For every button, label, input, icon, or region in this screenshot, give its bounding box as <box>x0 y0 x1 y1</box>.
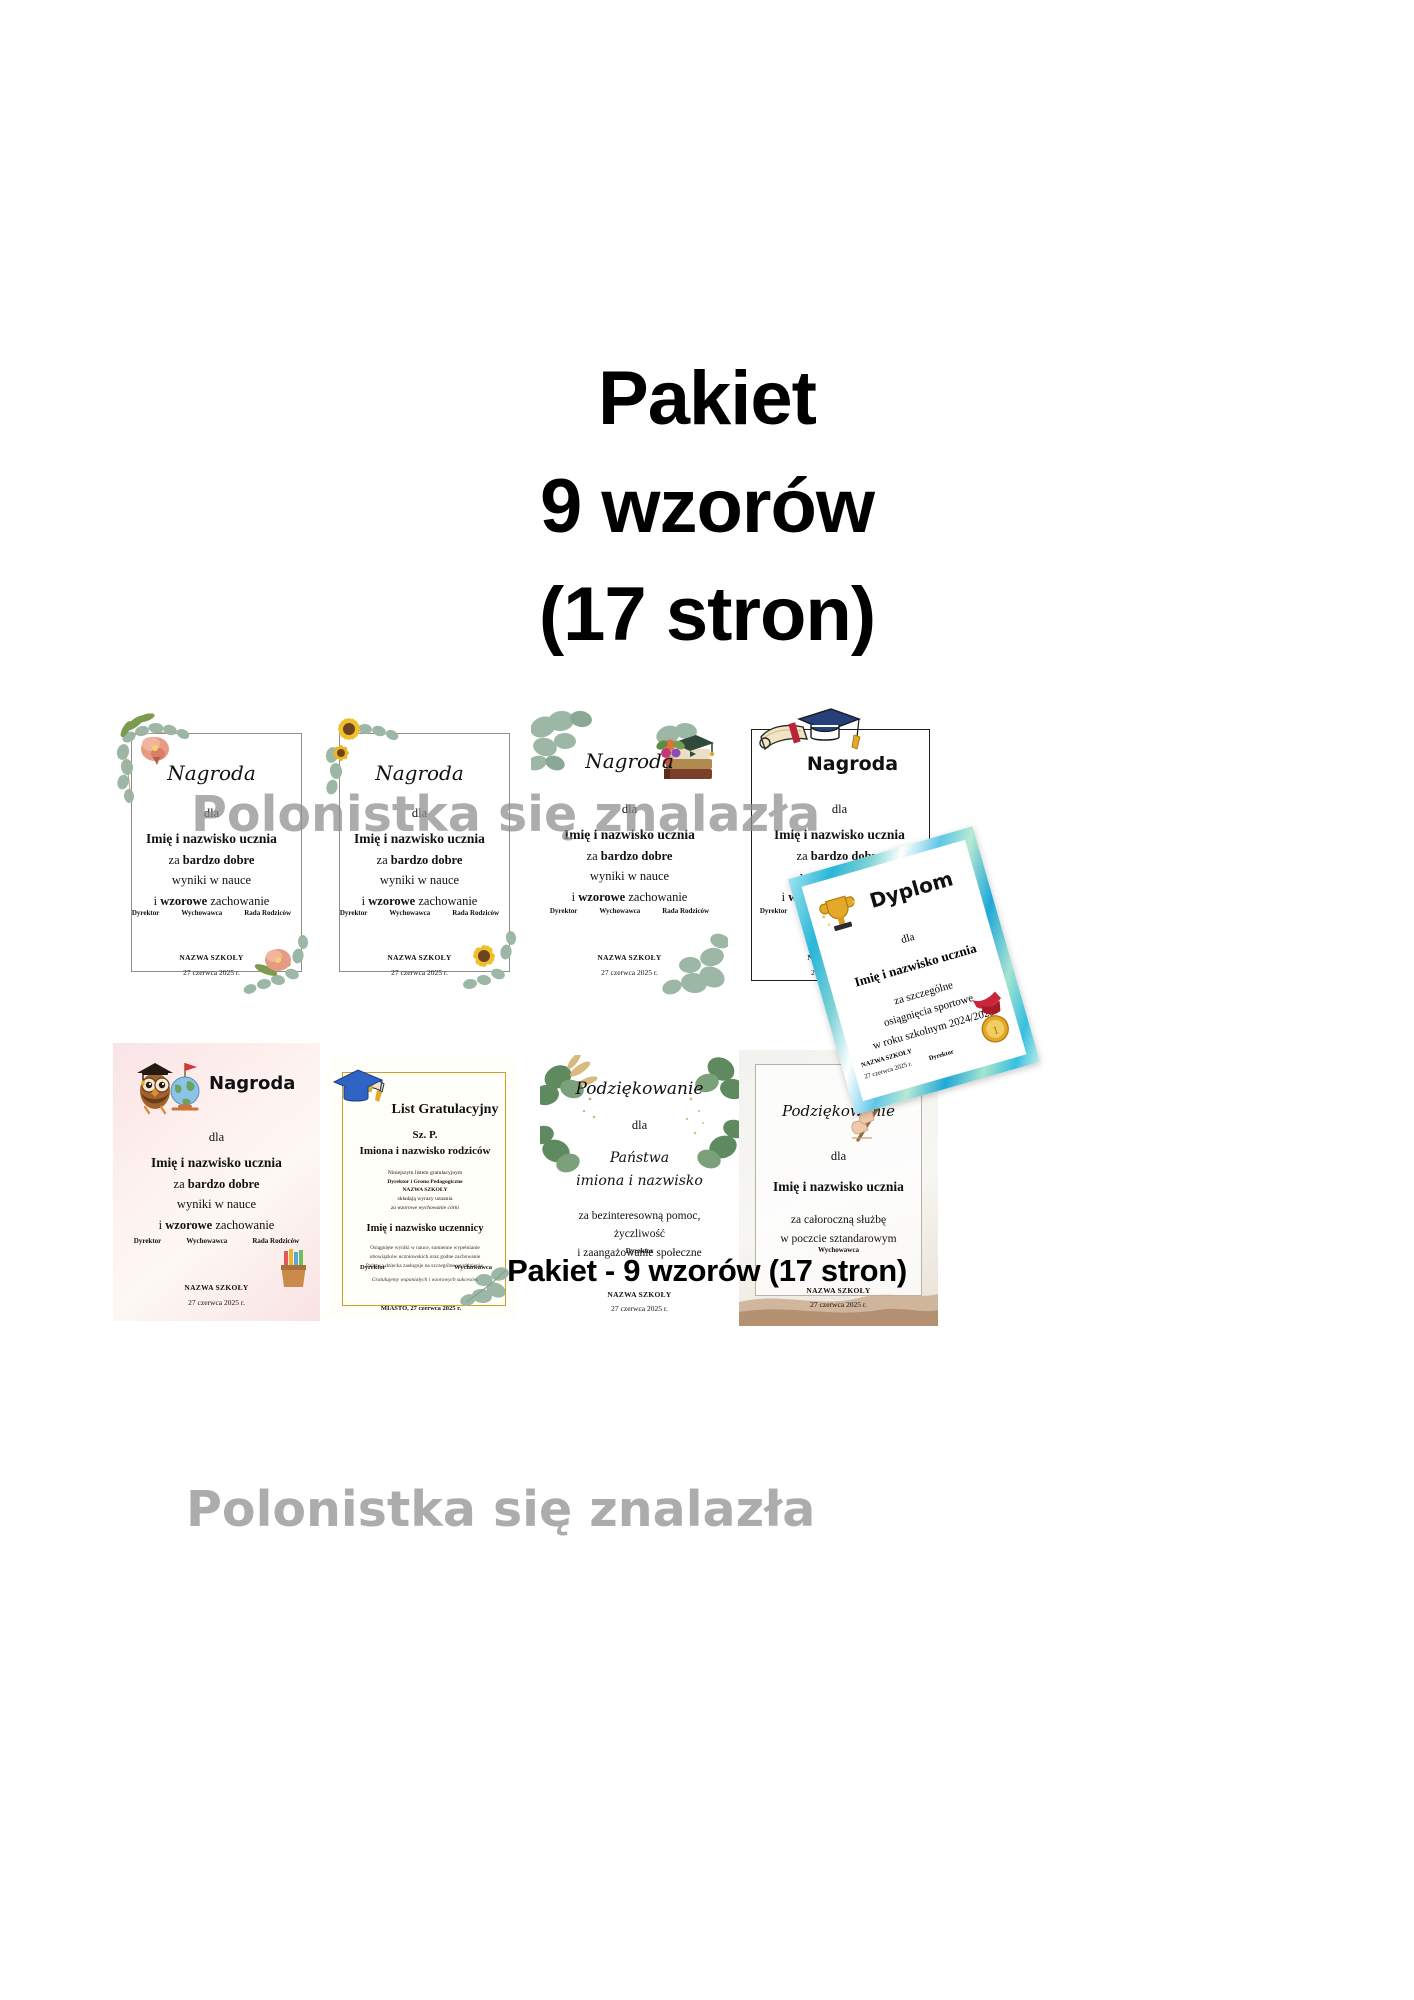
list-para1-line1: Niniejszym listem gratulacyjnym <box>348 1169 502 1178</box>
certificate-title: Nagroda <box>321 761 518 785</box>
certificate-recipient: Imię i nazwisko ucznia <box>747 1176 930 1198</box>
certificate-recipient: Imię i nazwisko ucznia <box>329 828 510 850</box>
certificate-reason-3: i wzorowe zachowanie <box>539 887 720 907</box>
certificate-recipient: Imię i nazwisko ucznia <box>121 828 302 850</box>
certificate-title: Nagroda <box>113 761 310 785</box>
owl-globe-icon <box>131 1053 211 1119</box>
signature-director: Dyrektor <box>134 1237 161 1245</box>
certificate-dla: dla <box>121 803 302 823</box>
certificate-school: NAZWA SZKOŁY <box>540 1290 739 1299</box>
signature-parents: Rada Rodziców <box>252 1237 299 1245</box>
certificate-recipient-line1: Państwa <box>548 1147 731 1170</box>
signature-director: Dyrektor <box>550 907 577 915</box>
list-place-date: MIASTO, 27 czerwca 2025 r. <box>326 1305 516 1312</box>
certificate-reason-3: i wzorowe zachowanie <box>121 891 302 911</box>
certificate-reason-3: i wzorowe zachowanie <box>121 1215 311 1235</box>
certificate-thumbnail-nagroda-floral[interactable]: Nagroda dla Imię i nazwisko ucznia za ba… <box>113 713 310 998</box>
certificate-school: NAZWA SZKOŁY <box>531 953 728 962</box>
certificate-reason-1: za bezinteresowną pomoc, <box>548 1207 731 1226</box>
certificate-thumbnail-nagroda-sunflower[interactable]: Nagroda dla Imię i nazwisko ucznia za ba… <box>321 713 518 998</box>
signature-tutor: Wychowawca <box>186 1237 227 1245</box>
signature-parents: Rada Rodziców <box>244 909 291 917</box>
signature-director: Dyrektor <box>132 909 159 917</box>
certificate-recipient: Imię i nazwisko ucznia <box>539 824 720 846</box>
certificate-reason-1: za bardzo dobre <box>329 850 510 870</box>
list-para1-line2: Dyrektor i Grono Pedagogiczne <box>348 1178 502 1187</box>
page-title-line-3: (17 stron) <box>0 561 1414 669</box>
certificate-dla: dla <box>747 1146 930 1166</box>
list-student: Imię i nazwisko uczennicy <box>348 1221 502 1236</box>
certificate-recipient-line2: imiona i nazwisko <box>548 1170 731 1193</box>
certificate-date: 27 czerwca 2025 r. <box>113 1298 320 1307</box>
certificate-date: 27 czerwca 2025 r. <box>531 968 728 977</box>
certificate-title: Nagroda <box>773 753 932 775</box>
certificate-reason-1: za bardzo dobre <box>121 1174 311 1194</box>
list-para1-line5: za wzorowe wychowanie córki <box>348 1204 502 1213</box>
certificate-reason-2: życzliwość <box>548 1225 731 1244</box>
certificate-recipient: Imię i nazwisko ucznia <box>749 824 930 846</box>
signature-tutor: Wychowawca <box>181 909 222 917</box>
watermark-bottom: Polonistka się znalazła <box>186 1481 815 1538</box>
certificate-title: Podziękowanie <box>540 1079 739 1099</box>
certificate-date: 27 czerwca 2025 r. <box>113 968 310 977</box>
signature-tutor: Wychowawca <box>599 907 640 915</box>
signature-parents: Rada Rodziców <box>452 909 499 917</box>
certificate-reason-2: wyniki w nauce <box>121 1194 311 1214</box>
page-title: Pakiet 9 wzorów (17 stron) <box>0 345 1414 669</box>
certificate-title: Nagroda <box>531 749 728 773</box>
list-salutation: Sz. P. <box>348 1128 502 1144</box>
list-parents: Imiona i nazwisko rodziców <box>348 1144 502 1160</box>
certificate-reason-1: za bardzo dobre <box>539 846 720 866</box>
certificate-dla: dla <box>121 1127 311 1147</box>
certificate-date: 27 czerwca 2025 r. <box>321 968 518 977</box>
certificate-dla: dla <box>548 1115 731 1135</box>
signature-parents: Rada Rodziców <box>662 907 709 915</box>
page-title-line-1: Pakiet <box>0 345 1414 453</box>
certificate-reason-2: wyniki w nauce <box>329 870 510 890</box>
certificate-reason-3: i wzorowe zachowanie <box>329 891 510 911</box>
certificate-thumbnail-nagroda-books[interactable]: Nagroda dla Imię i nazwisko ucznia za ba… <box>531 707 728 997</box>
certificate-reason-2: wyniki w nauce <box>539 866 720 886</box>
certificate-school: NAZWA SZKOŁY <box>321 953 518 962</box>
certificate-dla: dla <box>329 803 510 823</box>
certificate-reason-2: wyniki w nauce <box>121 870 302 890</box>
certificate-date: 27 czerwca 2025 r. <box>739 1300 938 1309</box>
signature-tutor: Wychowawca <box>389 909 430 917</box>
eucalyptus-corner-icon <box>531 707 621 785</box>
certificate-dla: dla <box>539 799 720 819</box>
certificate-school: NAZWA SZKOŁY <box>113 953 310 962</box>
list-title: List Gratulacyjny <box>382 1102 508 1118</box>
signature-director: Dyrektor <box>760 907 787 915</box>
list-para1-line3: NAZWA SZKOŁY <box>348 1186 502 1195</box>
certificate-reason-1: za całoroczną służbę <box>747 1211 930 1230</box>
certificate-title: Nagroda <box>209 1073 314 1094</box>
certificate-title: Podziękowanie <box>739 1102 938 1120</box>
certificate-reason-1: za bardzo dobre <box>121 850 302 870</box>
page-title-line-2: 9 wzorów <box>0 453 1414 561</box>
certificate-date: 27 czerwca 2025 r. <box>540 1304 739 1313</box>
package-caption: Pakiet - 9 wzorów (17 stron) <box>0 1253 1414 1289</box>
list-para2-line1: Osiągnięte wyniki w nauce, sumienne wype… <box>348 1244 502 1253</box>
list-para1-line4: składają wyrazy uznania <box>348 1195 502 1204</box>
certificate-dla: dla <box>749 799 930 819</box>
certificate-recipient: Imię i nazwisko ucznia <box>121 1152 311 1174</box>
signature-director: Dyrektor <box>340 909 367 917</box>
